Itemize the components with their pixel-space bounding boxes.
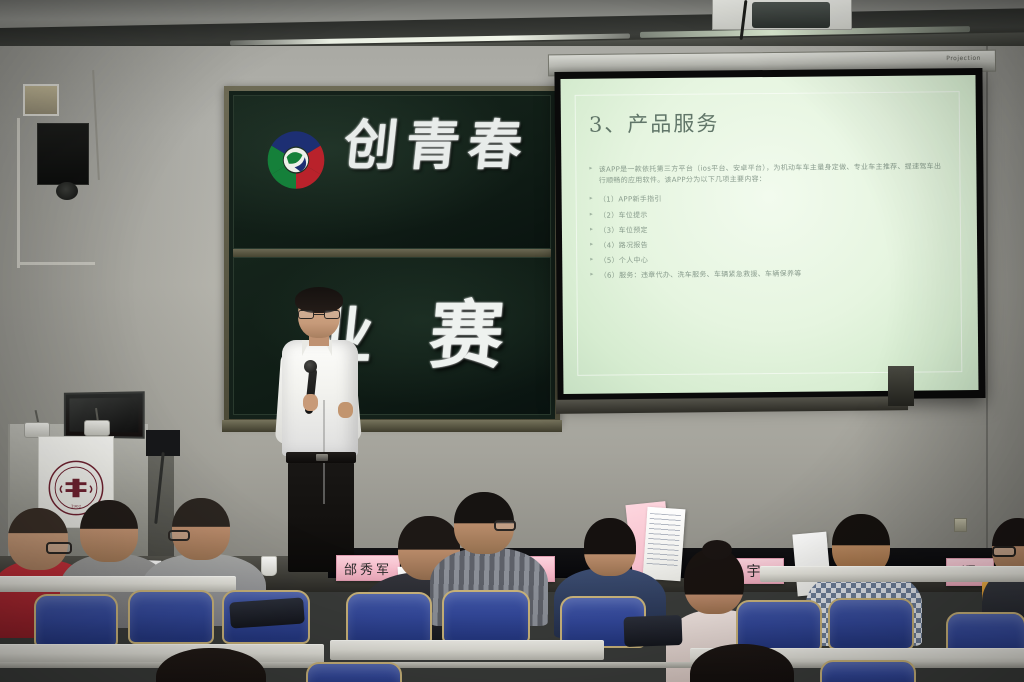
list-item: ▸ （2）车位提示 — [590, 207, 947, 221]
bullet-marker-icon: ▸ — [590, 210, 593, 220]
projection-screen: 3、产品服务 ▸ 该APP是一款依托第三方平台（ios平台、安卓平台），为机动车… — [554, 68, 985, 402]
chair — [442, 590, 530, 644]
chair — [820, 660, 916, 682]
chair — [828, 598, 914, 650]
glasses-bridge — [314, 314, 324, 315]
wall-conduit-vertical — [17, 118, 20, 268]
glasses-icon — [168, 530, 190, 541]
glasses-lens-right — [324, 310, 340, 319]
blackboard-banner-title: 创青春 — [341, 118, 533, 172]
person-head — [8, 508, 68, 570]
bullet-marker-icon: ▸ — [590, 240, 593, 250]
screen-bracket — [888, 366, 914, 406]
bullet-marker-icon: ▸ — [590, 271, 593, 281]
presenter-belt-buckle — [316, 454, 328, 461]
presenter-shirt — [282, 340, 358, 456]
person-head — [690, 644, 794, 682]
person-head — [584, 518, 636, 576]
chair — [306, 662, 402, 682]
person-head — [156, 648, 266, 682]
audience-person-front-2 — [690, 644, 794, 682]
microphone-head-icon — [304, 360, 317, 373]
chair — [346, 592, 432, 646]
glasses-icon — [992, 546, 1016, 557]
wall-conduit-horizontal — [17, 262, 95, 265]
blackboard-divider — [233, 249, 551, 257]
bullet-text: （5）个人中心 — [600, 255, 649, 266]
wall-speaker-icon — [37, 123, 89, 185]
shoulder-bag — [229, 597, 305, 628]
list-item: ▸ （1）APP新手指引 — [590, 192, 947, 206]
glasses-lens-left — [298, 310, 314, 319]
bullet-marker-icon: ▸ — [590, 225, 593, 235]
person-head — [80, 500, 138, 562]
bullet-marker-icon: ▸ — [590, 256, 593, 266]
projection-screen-surface: 3、产品服务 ▸ 该APP是一款依托第三方平台（ios平台、安卓平台），为机动车… — [560, 75, 978, 394]
blackboard-upper-panel: 创青春 — [233, 95, 551, 249]
glasses-icon — [494, 520, 516, 531]
paper-cup-1 — [261, 556, 277, 576]
desk-row-upper-right — [760, 566, 1024, 582]
slide-content: 3、产品服务 ▸ 该APP是一款依托第三方平台（ios平台、安卓平台），为机动车… — [589, 105, 948, 363]
audience-person-front-1 — [156, 648, 266, 682]
bullet-marker-icon: ▸ — [589, 165, 593, 187]
chair — [128, 590, 214, 644]
blackboard-char-right: 赛 — [425, 276, 508, 383]
presenter-hand-right — [338, 402, 353, 418]
desk-row-front-center — [330, 640, 604, 660]
bullet-text: 该APP是一款依托第三方平台（ios平台、安卓平台），为机动车车主量身定做、专业… — [599, 161, 947, 187]
presenter-hand-left — [303, 394, 318, 411]
bullet-marker-icon: ▸ — [590, 195, 593, 205]
list-item: ▸ （5）个人中心 — [590, 252, 947, 266]
wall-seam — [986, 46, 988, 566]
list-item: ▸ 该APP是一款依托第三方平台（ios平台、安卓平台），为机动车车主量身定做、… — [589, 161, 946, 187]
podium-microphone-right-icon — [84, 420, 110, 436]
presenter — [276, 290, 368, 572]
wall-access-panel — [23, 84, 59, 116]
chair — [34, 594, 118, 648]
hair-bun-icon — [702, 540, 732, 560]
slide-title: 3、产品服务 — [589, 105, 946, 138]
slide-bullet-list: ▸ 该APP是一款依托第三方平台（ios平台、安卓平台），为机动车车主量身定做、… — [589, 161, 947, 281]
person-head — [172, 498, 230, 560]
wall-outlet-icon — [954, 518, 967, 532]
pinwheel-logo — [260, 124, 332, 196]
bullet-text: （1）APP新手指引 — [599, 194, 662, 205]
bullet-text: （3）车位预定 — [599, 225, 648, 236]
glasses-icon — [297, 310, 341, 319]
list-item: ▸ （3）车位预定 — [590, 222, 947, 236]
list-item: ▸ （4）路况报告 — [590, 237, 947, 251]
ceiling-projector-icon — [752, 2, 830, 28]
bullet-text: （4）路况报告 — [599, 240, 648, 251]
security-camera-icon — [56, 182, 78, 200]
lecture-hall-photo: 创青春 业 赛 Projection 3、产品服务 ▸ 该APP是一款依托第三方… — [0, 0, 1024, 682]
camera-bag — [623, 615, 682, 647]
screen-case-label: Projection — [946, 55, 981, 62]
bullet-text: （6）服务：违章代办、洗车服务、车辆紧急救援、车辆保养等 — [600, 269, 802, 281]
chalk-tray — [222, 420, 562, 432]
bullet-text: （2）车位提示 — [599, 210, 648, 221]
list-item: ▸ （6）服务：违章代办、洗车服务、车辆紧急救援、车辆保养等 — [590, 267, 947, 281]
blackboard: 创青春 业 赛 — [224, 86, 560, 424]
